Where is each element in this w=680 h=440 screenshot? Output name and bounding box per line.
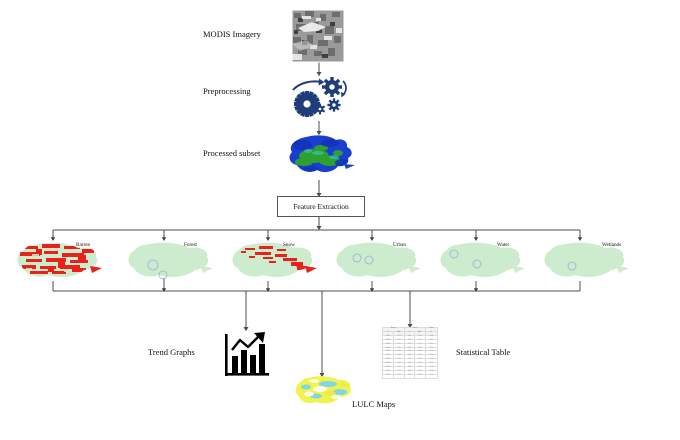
- stat-table-body: BarrenForestSnowYrAreaYrAreaYr20011.271.…: [383, 328, 438, 379]
- stat-table-cell: 1.29: [394, 374, 405, 378]
- urban-class-map: [333, 240, 421, 282]
- class-label-urban: Urban: [393, 243, 406, 248]
- satellite-image-thumbnail: [292, 10, 344, 62]
- stat-table-cell: 1.18: [414, 374, 425, 378]
- terrain-map-thumbnail: [284, 131, 356, 181]
- stat-table-cell: 2011: [383, 374, 394, 378]
- bar-chart-trend-icon: [222, 330, 272, 380]
- gears-icon: [289, 74, 351, 120]
- snow-class-map: [229, 240, 317, 282]
- class-label-barren: Barren: [76, 243, 90, 248]
- stat-table-cell: 1.25: [425, 374, 437, 378]
- feature-extraction-label: Feature Extraction: [293, 202, 349, 211]
- processed-subset-label: Processed subset: [203, 149, 260, 158]
- lulc-classified-map: [294, 375, 354, 409]
- lulc-maps-label: LULC Maps: [352, 400, 395, 409]
- trend-graphs-label: Trend Graphs: [148, 348, 195, 357]
- data-table-thumbnail: BarrenForestSnowYrAreaYrAreaYr20011.271.…: [382, 327, 438, 379]
- class-label-water: Water: [497, 243, 509, 248]
- modis-imagery-label: MODIS Imagery: [203, 30, 261, 39]
- preprocessing-label: Preprocessing: [203, 87, 251, 96]
- water-class-map: [437, 240, 525, 282]
- workflow-connectors: [0, 0, 680, 440]
- class-label-wetlands: Wetlands: [602, 243, 621, 248]
- statistical-table-label: Statistical Table: [456, 348, 510, 357]
- feature-extraction-box[interactable]: Feature Extraction: [277, 196, 365, 217]
- stat-table-row: 20111.291.141.181.25: [383, 374, 438, 378]
- class-label-forest: Forest: [184, 243, 197, 248]
- stat-table-cell: 1.14: [404, 374, 414, 378]
- forest-class-map: [125, 240, 213, 282]
- class-label-snow: Snow: [283, 243, 295, 248]
